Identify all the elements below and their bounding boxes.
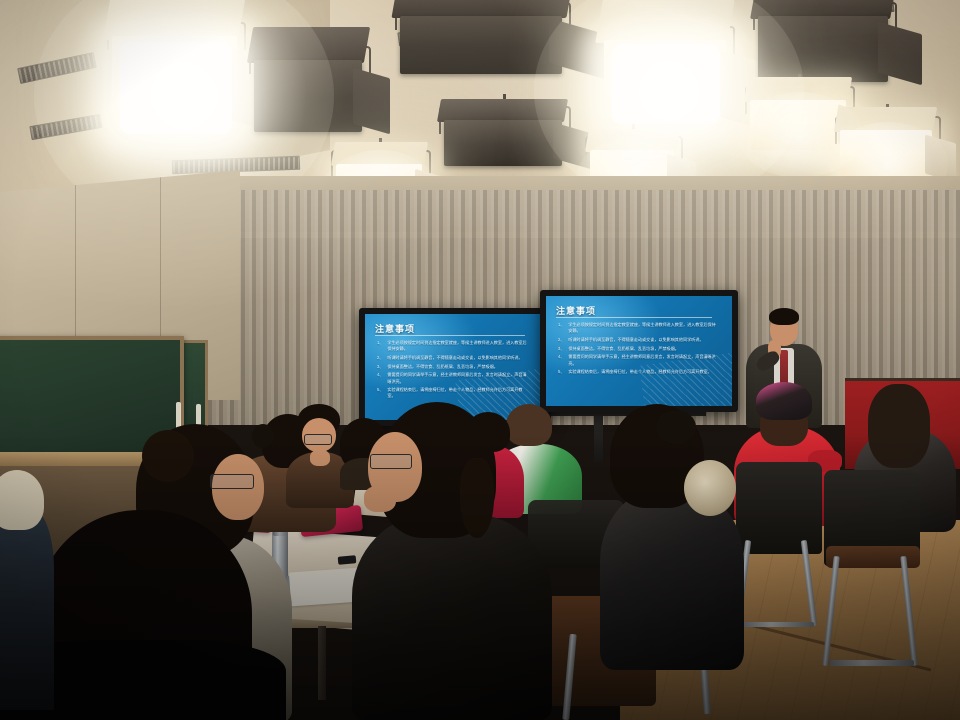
student-boy-hand [310,450,330,466]
bullet-text: 学生必须按规定时间到达指定教室就座，等候主讲教师进入教室，进入教室后保持安静。 [568,322,716,334]
light-housing [254,60,362,132]
barn-door-top-icon [585,129,680,152]
bullet-number: 2、 [558,337,564,343]
fg-center-glasses-icon [370,454,412,469]
light-9-on [750,100,846,150]
barn-door-top-icon [437,99,568,122]
bullet-number: 3、 [558,346,564,352]
bullet-text: 需要提问的同学请举手示意，经主讲教师同意后发言，发言时请起立，声音清晰洪亮。 [387,372,529,384]
slide-bullet-list: 1、学生必须按规定时间到达指定教室就座，等候主讲教师进入教室，进入教室后保持安静… [377,340,529,402]
bullet-text: 保持桌面整洁，不得饮食、乱扔纸屑、乱丢垃圾，严禁吸烟。 [568,346,679,352]
bullet-number: 4、 [558,354,564,366]
student-foreground-center [352,402,554,720]
light-3-off [400,16,562,74]
bullet-text: 听课时请将手机调至静音，不得随意走动或交谈，以免影响其他同学听讲。 [387,355,522,361]
fur-hood-body [600,490,744,670]
fur-trim-collar [684,460,736,516]
barn-door-top-icon [595,0,734,43]
slide-title-rule [556,317,712,318]
slide-bullet-4: 4、需要提问的同学请举手示意，经主讲教师同意后发言，发言时请起立，声音清晰洪亮。 [377,372,529,384]
paper-sheet [289,568,361,607]
bullet-text: 实验课程结束后，请将座椅归位，带走个人物品，经教师允许后方可离开教室。 [568,369,711,375]
light-6-off [758,16,888,82]
light-bloom-left [120,42,232,134]
bullet-number: 5、 [558,369,564,375]
light-10-on [840,130,932,180]
fg-center-ponytail [460,458,494,538]
far-left-hair [0,470,44,530]
monitor-right[interactable]: 注意事项1、学生必须按规定时间到达指定教室就座，等候主讲教师进入教室，进入教室后… [540,290,738,412]
barn-door-top-icon [744,77,852,102]
lecture-hall-photo: 注意事项1、学生必须按规定时间到达指定教室就座，等候主讲教师进入教室，进入教室后… [0,0,960,720]
bullet-text: 实验课程结束后，请将座椅归位，带走个人物品，经教师允许后方可离开教室。 [387,387,529,399]
light-housing [444,120,562,166]
glasses-left-glasses-icon [210,474,254,489]
presenter-hair [769,308,799,325]
glasses-left-bun [142,430,194,482]
slide-bullet-3: 3、保持桌面整洁，不得饮食、乱扔纸屑、乱丢垃圾，严禁吸烟。 [558,346,716,352]
bullet-text: 保持桌面整洁，不得饮食、乱扔纸屑、乱丢垃圾，严禁吸烟。 [387,364,498,370]
fg-center-body [352,514,552,720]
slide-bullet-2: 2、听课时请将手机调至静音，不得随意走动或交谈，以免影响其他同学听讲。 [377,355,529,361]
bullet-number: 1、 [377,340,383,352]
slide-bullet-3: 3、保持桌面整洁，不得饮食、乱扔纸屑、乱丢垃圾，严禁吸烟。 [377,364,529,370]
light-housing [750,100,846,150]
light-housing [840,130,932,180]
light-4-off [444,120,562,166]
cap-pink-black [756,382,812,420]
bullet-text: 听课时请将手机调至静音，不得随意走动或交谈，以免影响其他同学听讲。 [568,337,703,343]
bullet-number: 3、 [377,364,383,370]
slide-bullet-1: 1、学生必须按规定时间到达指定教室就座，等候主讲教师进入教室，进入教室后保持安静… [558,322,716,334]
far-left-body [0,510,54,710]
bullet-number: 4、 [377,372,383,384]
slide-bullet-2: 2、听课时请将手机调至静音，不得随意走动或交谈，以免影响其他同学听讲。 [558,337,716,343]
slide-bullet-5: 5、实验课程结束后，请将座椅归位，带走个人物品，经教师允许后方可离开教室。 [558,369,716,375]
bullet-text: 需要提问的同学请举手示意，经主讲教师同意后发言，发言时请起立，声音清晰洪亮。 [568,354,716,366]
fur-hood-bun [656,410,696,444]
chair-rail-2 [830,660,914,666]
barn-door-top-icon [834,107,938,132]
bullet-number: 1、 [558,322,564,334]
barn-door-side-icon [353,68,390,135]
slide-bullet-4: 4、需要提问的同学请举手示意，经主讲教师同意后发言，发言时请起立，声音清晰洪亮。 [558,354,716,366]
bullet-number: 2、 [377,355,383,361]
slide-title-rule [375,335,525,336]
slide-bullet-list: 1、学生必须按规定时间到达指定教室就座，等候主讲教师进入教室，进入教室后保持安静… [558,322,716,378]
chair-rail-1 [742,622,814,627]
student-far-left-edge [0,470,54,720]
slide-title: 注意事项 [375,322,415,335]
student-fur-hood [600,404,746,668]
light-housing [400,16,562,74]
fg-center-hand [364,486,396,512]
table-leg [318,626,326,700]
student-boy-glasses-icon [304,434,332,445]
slide-bullet-1: 1、学生必须按规定时间到达指定教室就座，等候主讲教师进入教室，进入教室后保持安静… [377,340,529,352]
light-2-off [254,60,362,132]
dark-jacket-hair [868,384,930,468]
barn-door-top-icon [247,27,370,63]
barn-door-top-icon [103,0,246,40]
light-housing [758,16,888,82]
slide-bullet-5: 5、实验课程结束后，请将座椅归位，带走个人物品，经教师允许后方可离开教室。 [377,387,529,399]
barn-door-top-icon [330,142,427,166]
slide-title: 注意事项 [556,304,596,317]
monitor-right-screen: 注意事项1、学生必须按规定时间到达指定教室就座，等候主讲教师进入教室，进入教室后… [546,296,732,406]
bullet-text: 学生必须按规定时间到达指定教室就座，等候主讲教师进入教室，进入教室后保持安静。 [387,340,529,352]
light-bloom-right [612,44,720,124]
bullet-number: 5、 [377,387,383,399]
